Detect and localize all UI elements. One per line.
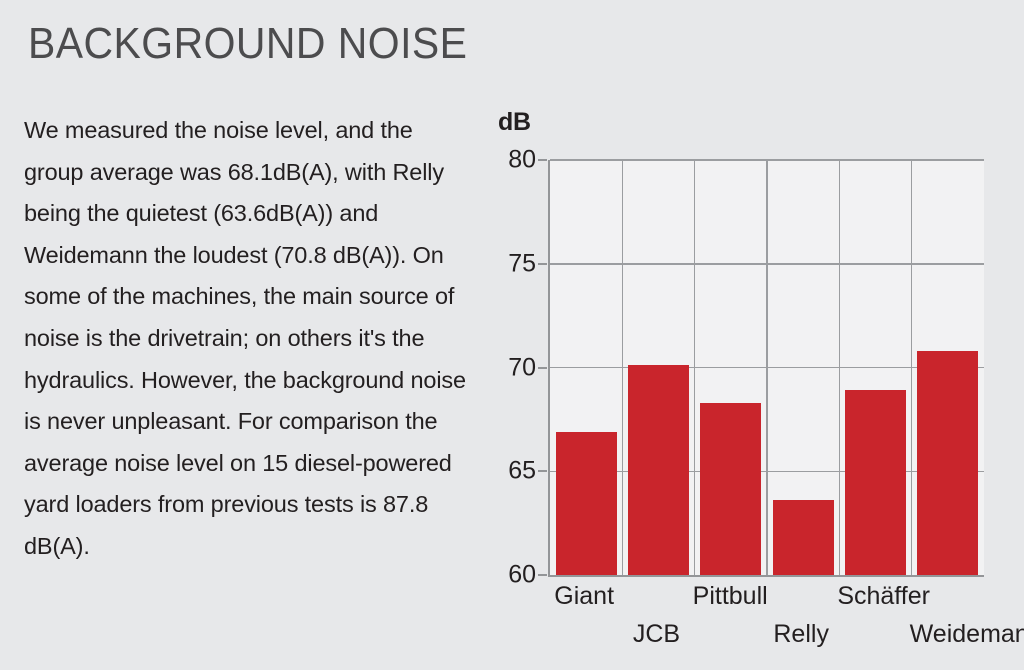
bar-sch-ffer[interactable] [845, 390, 906, 575]
x-axis-label-jcb: JCB [620, 622, 692, 647]
y-axis-tick-mark [538, 574, 547, 576]
bar-cell [622, 160, 694, 575]
noise-level-bar-chart: dB 6065707580 GiantJCBPittbullRellySchäf… [490, 108, 1010, 653]
x-axis-label-relly: Relly [765, 622, 837, 647]
y-axis-tick-label: 75 [490, 251, 536, 276]
x-axis-label-pittbull: Pittbull [693, 584, 765, 609]
bar-relly[interactable] [773, 500, 834, 575]
x-axis-label-sch-ffer: Schäffer [837, 584, 909, 609]
y-axis-tick-mark [538, 263, 547, 265]
x-axis-label-weidemann: Weidemann [910, 622, 982, 647]
bar-jcb[interactable] [628, 365, 689, 575]
y-axis-tick-label: 80 [490, 148, 536, 173]
page-title: BACKGROUND NOISE [28, 22, 443, 66]
y-axis-tick-label: 65 [490, 459, 536, 484]
bar-cell [695, 160, 767, 575]
article-body-text: We measured the noise level, and the gro… [24, 110, 472, 568]
y-axis-tick-mark [538, 367, 547, 369]
bar-cell [767, 160, 839, 575]
y-axis-tick-labels: 6065707580 [490, 160, 536, 580]
bars-layer [550, 160, 984, 575]
bar-pittbull[interactable] [700, 403, 761, 575]
bar-cell [550, 160, 622, 575]
article-column: BACKGROUND NOISE We measured the noise l… [22, 8, 474, 662]
bar-cell [912, 160, 984, 575]
plot-wrapper: 6065707580 GiantJCBPittbullRellySchäffer… [490, 160, 982, 580]
bar-weidemann[interactable] [917, 351, 978, 575]
y-axis-tick-label: 60 [490, 563, 536, 588]
y-axis-tick-mark [538, 159, 547, 161]
y-axis-tick-mark [538, 470, 547, 472]
x-axis-category-labels: GiantJCBPittbullRellySchäfferWeidemann [548, 578, 982, 658]
y-axis-unit-label: dB [498, 108, 531, 137]
y-axis-tick-label: 70 [490, 355, 536, 380]
plot-area [548, 160, 984, 577]
bar-giant[interactable] [556, 432, 617, 575]
x-axis-label-giant: Giant [548, 584, 620, 609]
bar-cell [839, 160, 911, 575]
